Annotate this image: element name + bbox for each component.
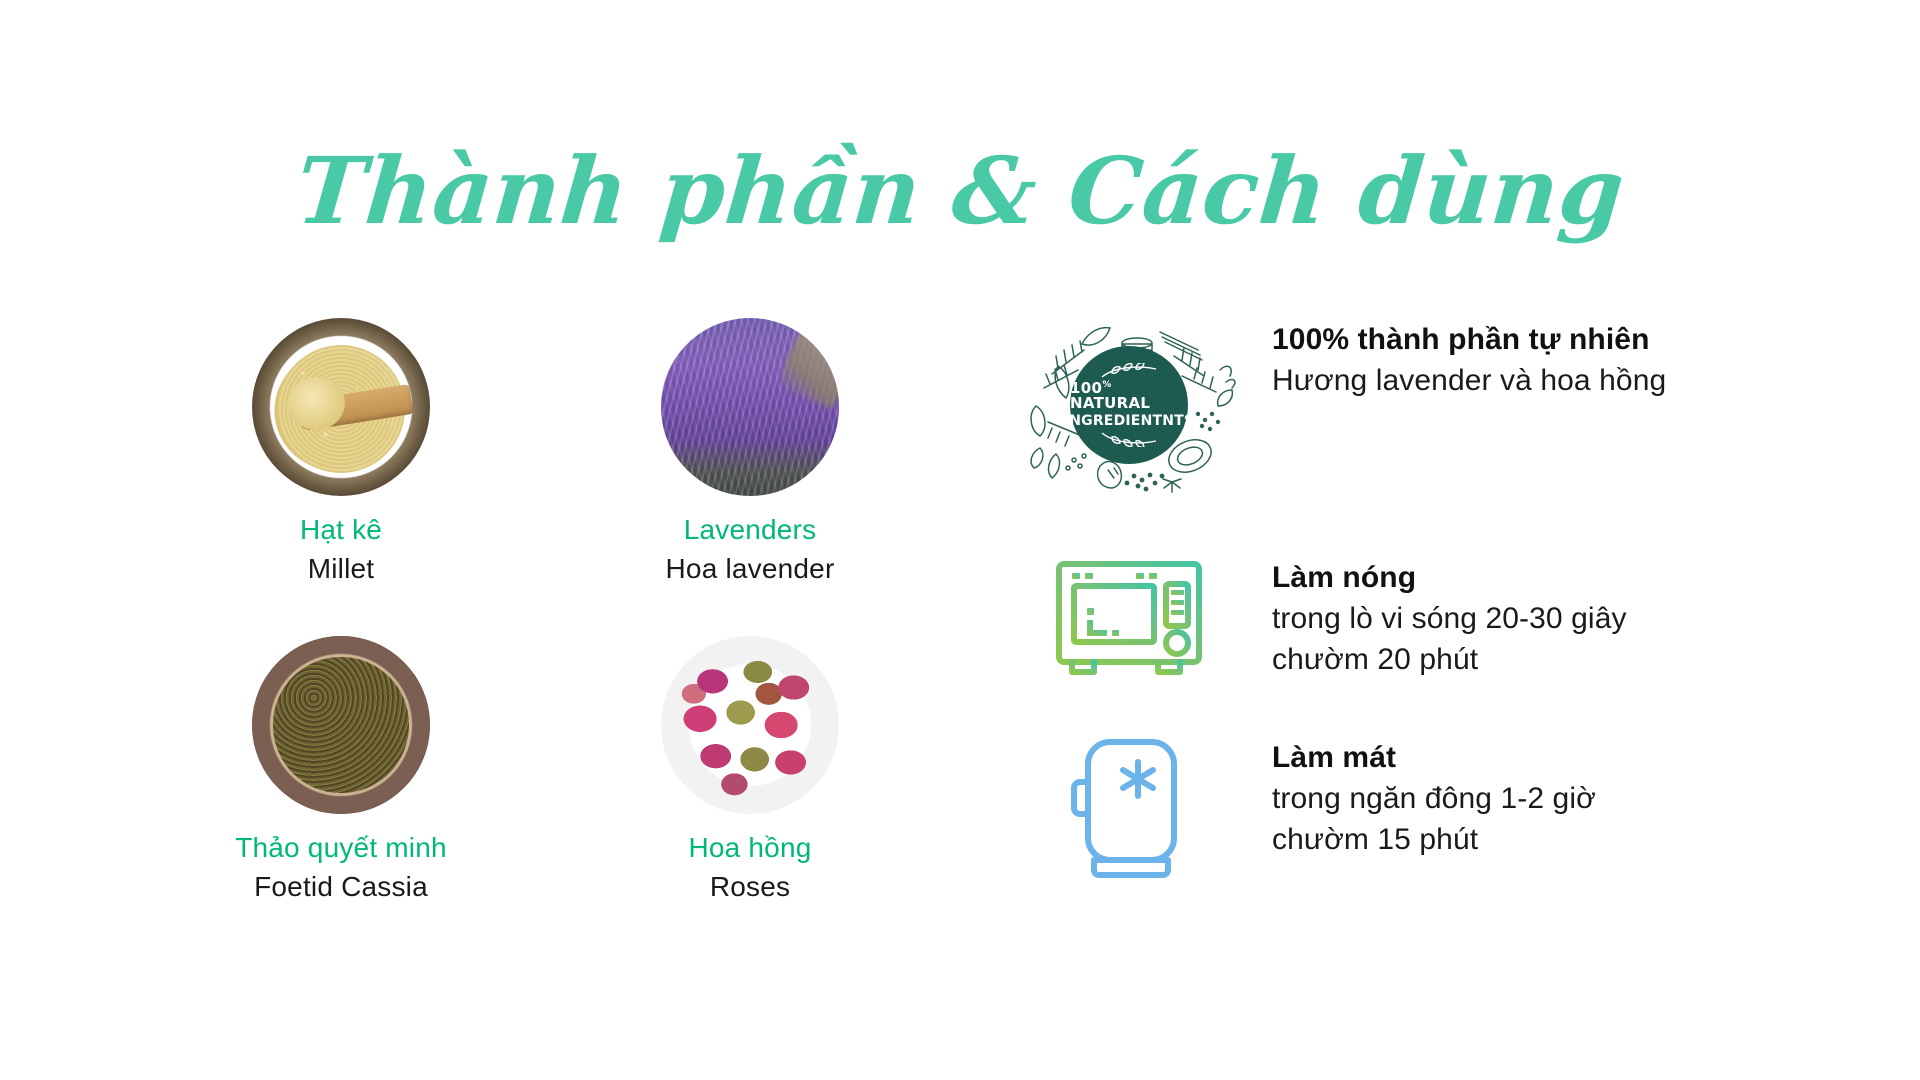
instruction-text: 100% thành phần tự nhiên Hương lavender … (1272, 310, 1666, 402)
ingredient-card[interactable]: Thảo quyết minh Foetid Cassia (196, 636, 486, 906)
sprig-top-icon (1098, 363, 1160, 381)
ingredient-card[interactable]: Lavenders Hoa lavender (605, 318, 895, 588)
ingredient-name-en: Hoa lavender (605, 551, 895, 588)
instruction-icon-slot (1020, 728, 1238, 882)
lavender-field-photo (661, 318, 839, 496)
page-header: Thành phần & Cách dùng (0, 78, 1920, 304)
sprig-bottom-icon (1098, 429, 1160, 447)
instruction-block-cool: Làm mát trong ngăn đông 1-2 giờ chườm 15… (1020, 728, 1900, 882)
badge-disc: 100% NATURAL INGREDIENTNTS (1070, 346, 1188, 464)
instruction-line: Hương lavender và hoa hồng (1272, 361, 1666, 402)
instruction-line: trong lò vi sóng 20-30 giây (1272, 599, 1627, 640)
instructions-list: 100% NATURAL INGREDIENTNTS 100% thành ph… (1020, 310, 1900, 882)
freezer-icon (1066, 736, 1192, 882)
instruction-title: Làm nóng (1272, 558, 1627, 599)
instruction-block-heat: Làm nóng trong lò vi sóng 20-30 giây chư… (1020, 548, 1900, 680)
instruction-line: chườm 15 phút (1272, 820, 1596, 861)
ingredient-name-vi: Thảo quyết minh (196, 830, 486, 867)
badge-line-1: 100% NATURAL (1070, 381, 1188, 413)
instruction-icon-slot (1020, 548, 1238, 680)
natural-ingredients-badge-icon: 100% NATURAL INGREDIENTNTS (1022, 310, 1236, 500)
instruction-line: chườm 20 phút (1272, 640, 1627, 681)
badge-line-2: INGREDIENTNTS (1064, 413, 1194, 429)
ingredient-name-en: Foetid Cassia (196, 869, 486, 906)
ingredient-name-vi: Lavenders (605, 512, 895, 549)
instruction-text: Làm nóng trong lò vi sóng 20-30 giây chư… (1272, 548, 1627, 680)
instruction-title: Làm mát (1272, 738, 1596, 779)
ingredient-card[interactable]: Hạt kê Millet (196, 318, 486, 588)
millet-bowl-photo (252, 318, 430, 496)
ingredient-name-vi: Hạt kê (196, 512, 486, 549)
instruction-line: trong ngăn đông 1-2 giờ (1272, 779, 1596, 820)
ingredient-name-en: Millet (196, 551, 486, 588)
ingredient-card[interactable]: Hoa hồng Roses (605, 636, 895, 906)
rose-buds-photo (661, 636, 839, 814)
snowflake-icon (1123, 762, 1153, 796)
instruction-text: Làm mát trong ngăn đông 1-2 giờ chườm 15… (1272, 728, 1596, 860)
microwave-icon (1054, 556, 1204, 680)
instruction-block-natural: 100% NATURAL INGREDIENTNTS 100% thành ph… (1020, 310, 1900, 500)
ingredient-name-en: Roses (605, 869, 895, 906)
ingredients-grid: Hạt kê Millet Lavenders Hoa lavender Thả… (196, 318, 896, 906)
ingredient-name-vi: Hoa hồng (605, 830, 895, 867)
page-title: Thành phần & Cách dùng (292, 140, 1628, 243)
cassia-seeds-photo (252, 636, 430, 814)
instruction-icon-slot: 100% NATURAL INGREDIENTNTS (1020, 310, 1238, 500)
instruction-title: 100% thành phần tự nhiên (1272, 320, 1666, 361)
